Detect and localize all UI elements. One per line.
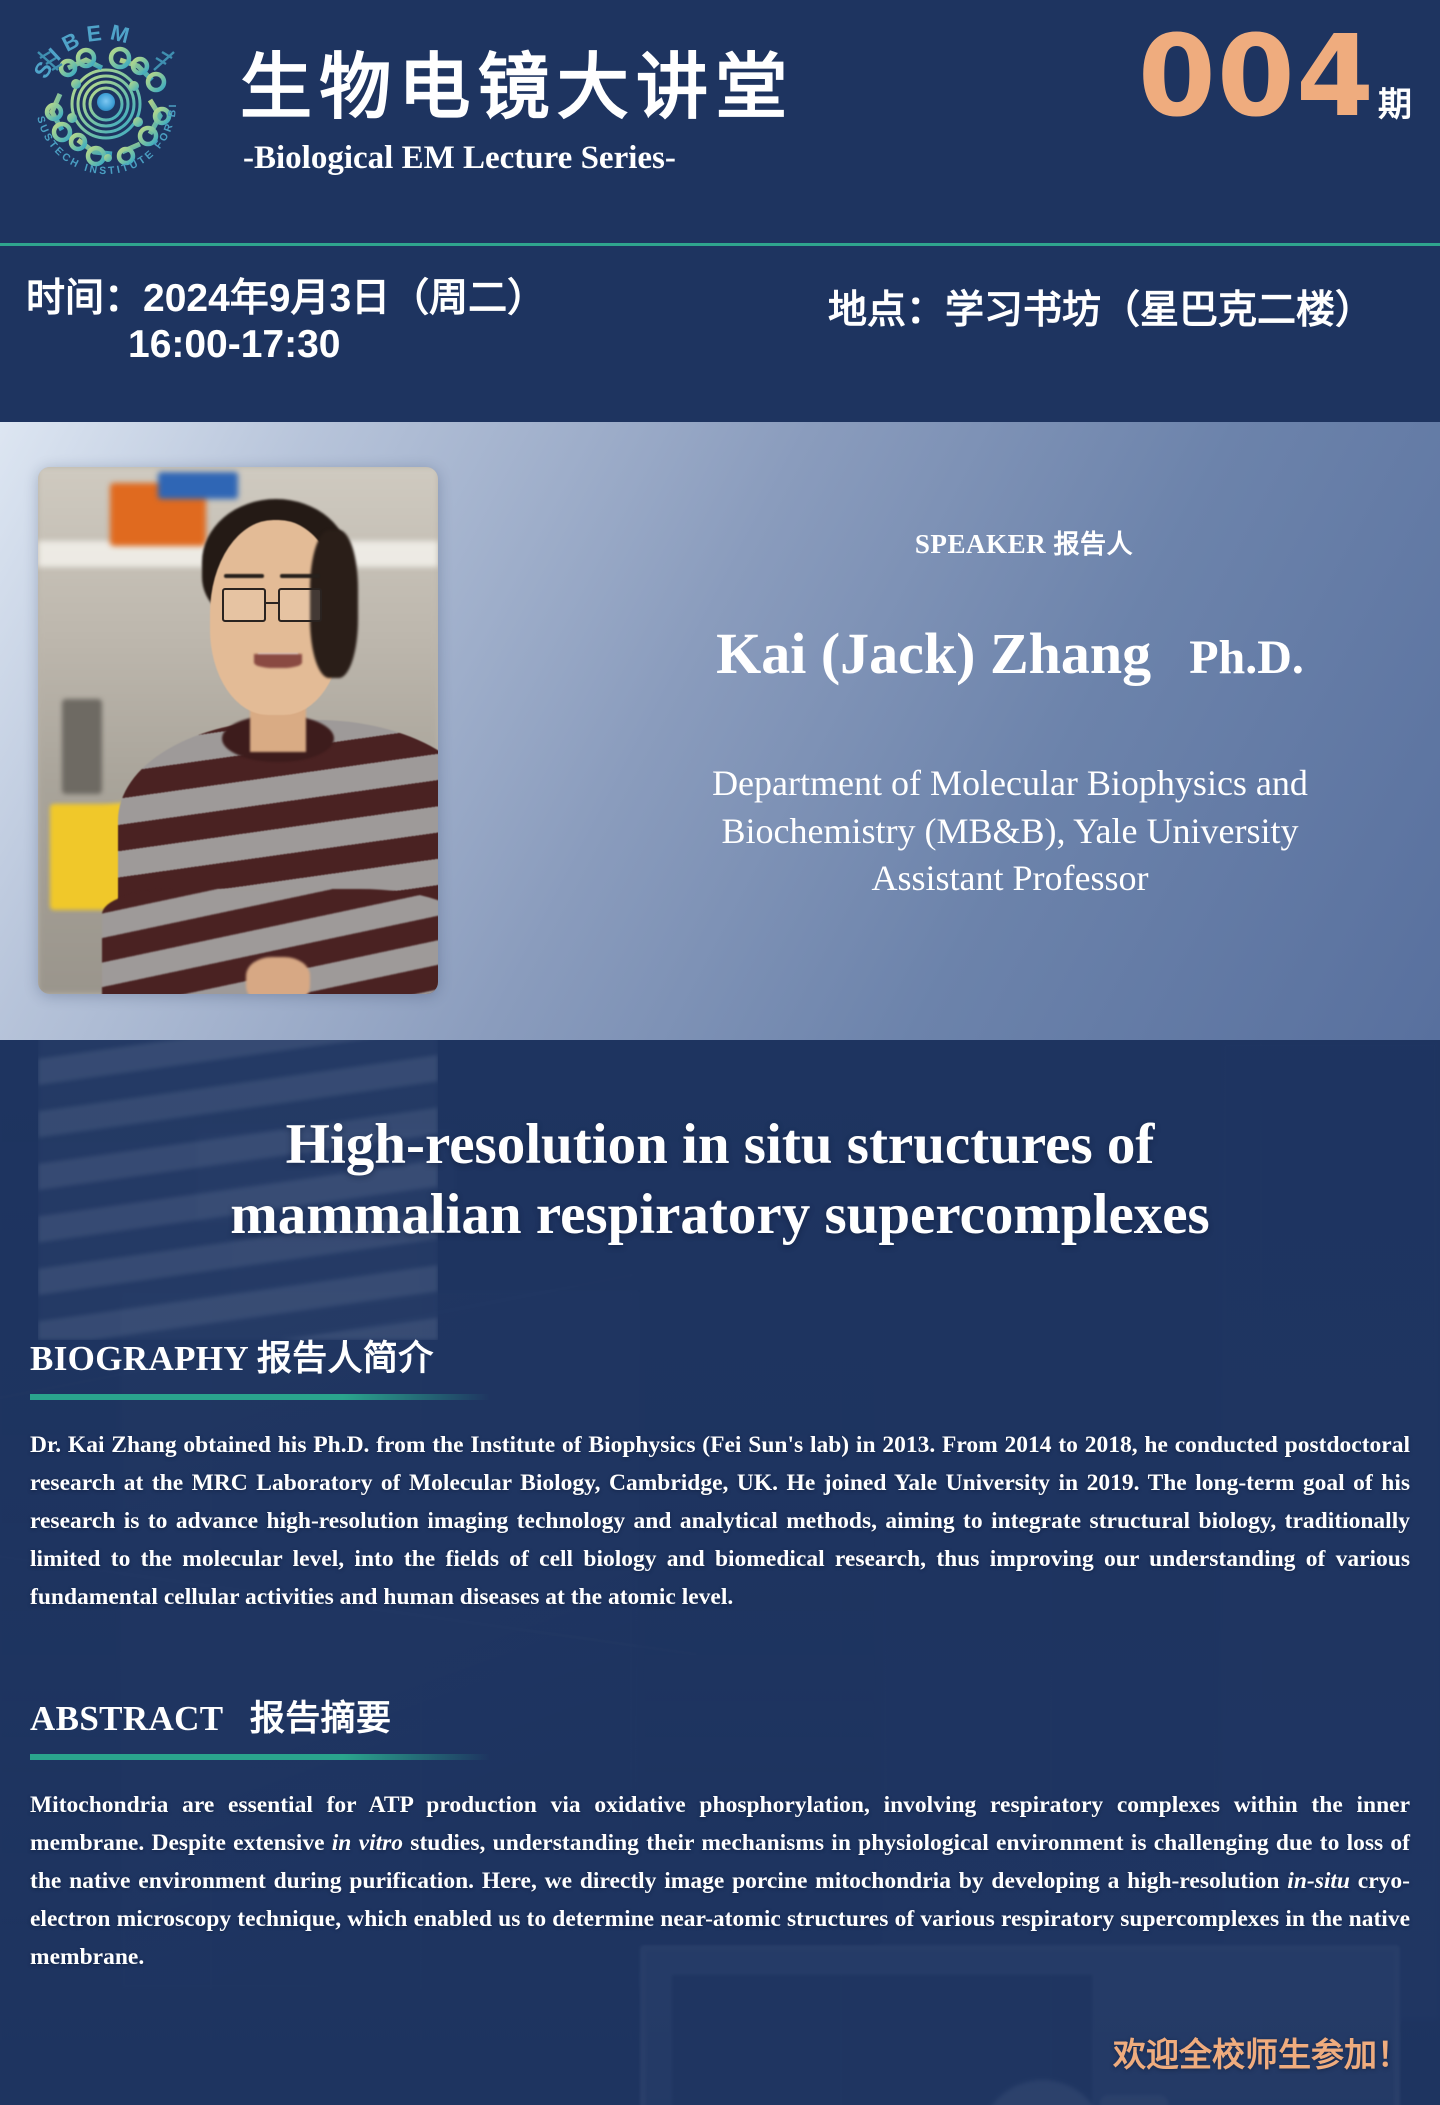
biography-heading: BIOGRAPHY 报告人简介 — [30, 1330, 1440, 1381]
speaker-section — [0, 422, 1440, 1040]
speaker-name-row: Kai (Jack) Zhang Ph.D. — [580, 620, 1440, 687]
speaker-affiliation-line2: Biochemistry (MB&B), Yale University — [580, 808, 1440, 856]
poster-title-english: -Biological EM Lecture Series- — [243, 140, 676, 177]
lecture-title-line2: mammalian respiratory supercomplexes — [60, 1180, 1380, 1250]
abstract-italic-in-situ: in-situ — [1287, 1868, 1350, 1894]
sibem-logo-icon: SIBEM SUSTECH INSTITUTE FOR BIOLOGICAL E… — [16, 8, 196, 188]
poster-title-chinese: 生物电镜大讲堂 — [240, 28, 794, 133]
abstract-text: Mitochondria are essential for ATP produ… — [30, 1786, 1410, 1976]
lecture-title: High-resolution in situ structures of ma… — [60, 1110, 1380, 1249]
issue-badge: 004 期 — [1138, 24, 1412, 130]
lecture-title-line1: High-resolution in situ structures of — [60, 1110, 1380, 1180]
abstract-underline — [30, 1754, 490, 1760]
poster-header: SIBEM SUSTECH INSTITUTE FOR BIOLOGICAL E… — [0, 0, 1440, 243]
abstract-heading: ABSTRACT 报告摘要 — [30, 1690, 1440, 1741]
biography-heading-en: BIOGRAPHY — [30, 1339, 248, 1378]
abstract-heading-en: ABSTRACT — [30, 1699, 223, 1738]
speaker-name: Kai (Jack) Zhang — [716, 621, 1151, 686]
event-time-line2: 16:00-17:30 — [26, 322, 546, 368]
event-location: 地点：学习书坊（星巴克二楼） — [828, 279, 1374, 335]
speaker-degree: Ph.D. — [1189, 631, 1304, 684]
abstract-heading-cn: 报告摘要 — [250, 1699, 391, 1738]
welcome-note: 欢迎全校师生参加！ — [1113, 2028, 1410, 2076]
issue-unit-label: 期 — [1378, 88, 1412, 122]
speaker-affiliation-line1: Department of Molecular Biophysics and — [580, 760, 1440, 808]
speaker-label-cn: 报告人 — [1053, 529, 1133, 559]
speaker-affiliation: Department of Molecular Biophysics and B… — [580, 760, 1440, 903]
event-info-bar: 时间：2024年9月3日（周二） 16:00-17:30 地点：学习书坊（星巴克… — [0, 246, 1440, 422]
issue-number: 004 — [1138, 24, 1375, 130]
biography-underline — [30, 1394, 490, 1400]
poster-root: SIBEM SUSTECH INSTITUTE FOR BIOLOGICAL E… — [0, 0, 1440, 2105]
biography-section: BIOGRAPHY 报告人简介 Dr. Kai Zhang obtained h… — [0, 1330, 1440, 1616]
abstract-italic-in-vitro: in vitro — [332, 1830, 403, 1856]
event-time-line1: 时间：2024年9月3日（周二） — [26, 277, 546, 320]
speaker-affiliation-line3: Assistant Professor — [580, 855, 1440, 903]
speaker-photo — [38, 467, 438, 994]
abstract-section: ABSTRACT 报告摘要 Mitochondria are essential… — [0, 1690, 1440, 1976]
speaker-label-en: SPEAKER — [915, 529, 1046, 559]
biography-text: Dr. Kai Zhang obtained his Ph.D. from th… — [30, 1426, 1410, 1616]
biography-heading-cn: 报告人简介 — [257, 1339, 434, 1378]
event-time: 时间：2024年9月3日（周二） 16:00-17:30 — [26, 276, 546, 368]
speaker-label: SPEAKER 报告人 — [644, 524, 1404, 561]
